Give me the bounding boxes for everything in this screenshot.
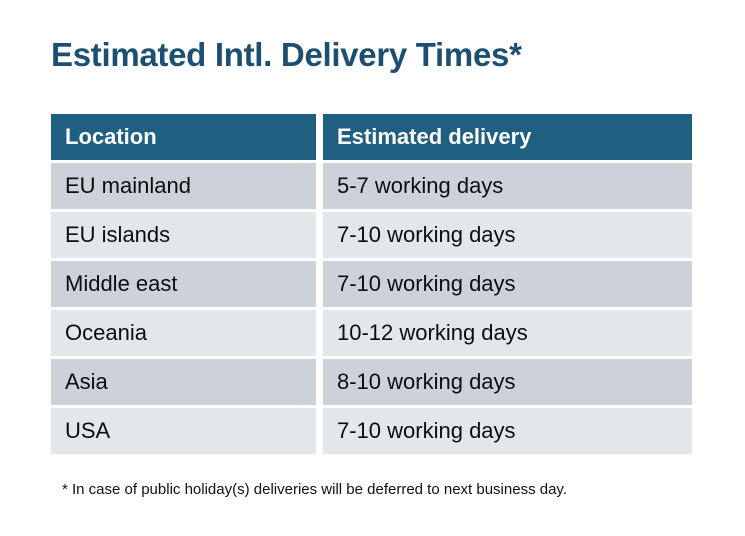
cell-delivery: 8-10 working days (323, 359, 692, 405)
cell-location: EU islands (51, 212, 316, 258)
cell-location: EU mainland (51, 163, 316, 209)
cell-delivery: 5-7 working days (323, 163, 692, 209)
footnote: * In case of public holiday(s) deliverie… (62, 481, 567, 498)
table-row: Oceania 10-12 working days (51, 310, 692, 356)
column-header-estimated-delivery: Estimated delivery (323, 114, 692, 160)
delivery-times-page: Estimated Intl. Delivery Times* Location… (0, 0, 745, 536)
cell-location: Oceania (51, 310, 316, 356)
table-header-row: Location Estimated delivery (51, 114, 692, 160)
cell-location: Middle east (51, 261, 316, 307)
estimated-delivery-table: Location Estimated delivery EU mainland … (51, 114, 692, 457)
table-row: Asia 8-10 working days (51, 359, 692, 405)
cell-delivery: 7-10 working days (323, 212, 692, 258)
page-title: Estimated Intl. Delivery Times* (51, 36, 522, 74)
cell-delivery: 7-10 working days (323, 408, 692, 454)
cell-location: USA (51, 408, 316, 454)
cell-delivery: 10-12 working days (323, 310, 692, 356)
cell-delivery: 7-10 working days (323, 261, 692, 307)
table-row: Middle east 7-10 working days (51, 261, 692, 307)
column-header-location: Location (51, 114, 316, 160)
table-row: EU mainland 5-7 working days (51, 163, 692, 209)
table-row: EU islands 7-10 working days (51, 212, 692, 258)
cell-location: Asia (51, 359, 316, 405)
table-row: USA 7-10 working days (51, 408, 692, 454)
